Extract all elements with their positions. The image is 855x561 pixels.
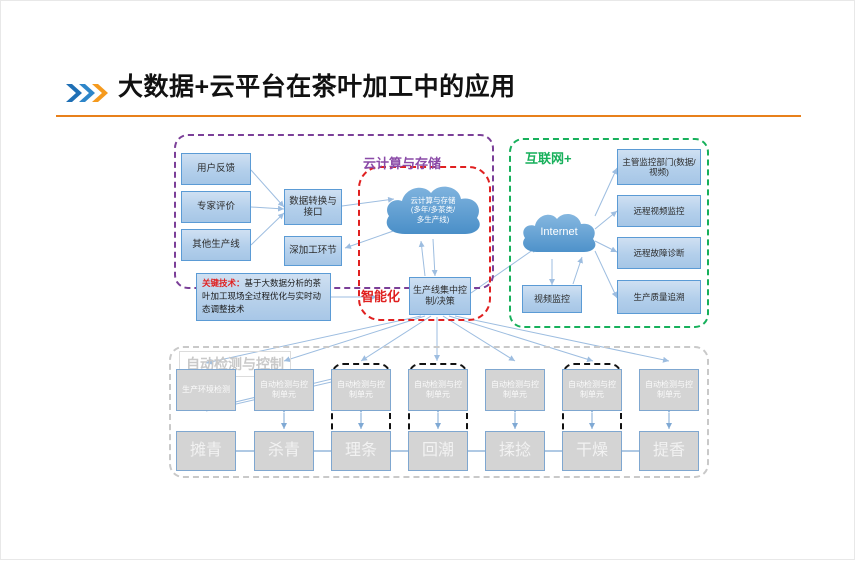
node-auto-unit-3[interactable]: 自动检测与控制单元 — [408, 369, 468, 411]
page-title: 大数据+云平台在茶叶加工中的应用 — [118, 67, 516, 107]
step-huichao[interactable]: 回潮 — [408, 431, 468, 471]
cloud-internet[interactable]: Internet — [517, 207, 601, 259]
node-environment-detection[interactable]: 生产环境检测 — [176, 369, 236, 411]
cloud-computing-storage[interactable]: 云计算与存储 (多年/多茶类/ 多生产线) — [379, 177, 487, 243]
node-remote-fault-diagnosis[interactable]: 远程故障诊断 — [617, 237, 701, 269]
node-data-conversion-interface[interactable]: 数据转换与接口 — [284, 189, 342, 225]
region-label-cloud-computing: 云计算与存储 — [363, 153, 441, 172]
node-deep-processing[interactable]: 深加工环节 — [284, 236, 342, 266]
node-auto-unit-4[interactable]: 自动检测与控制单元 — [485, 369, 545, 411]
slide-canvas: 大数据+云平台在茶叶加工中的应用 — [0, 0, 855, 560]
region-label-internet-plus: 互联网+ — [525, 148, 572, 167]
node-auto-unit-2[interactable]: 自动检测与控制单元 — [331, 369, 391, 411]
chevron-triple-icon — [64, 81, 116, 105]
step-tixiang[interactable]: 提香 — [639, 431, 699, 471]
node-supervision-department[interactable]: 主管监控部门(数据/视频) — [617, 149, 701, 185]
node-auto-unit-6[interactable]: 自动检测与控制单元 — [639, 369, 699, 411]
cloud-shape-icon — [517, 207, 601, 259]
node-user-feedback[interactable]: 用户反馈 — [181, 153, 251, 185]
step-litiao[interactable]: 理条 — [331, 431, 391, 471]
node-auto-unit-1[interactable]: 自动检测与控制单元 — [254, 369, 314, 411]
region-label-intelligent: 智能化 — [361, 286, 400, 305]
node-video-monitoring[interactable]: 视频监控 — [522, 285, 582, 313]
key-technology-callout: 关键技术：基于大数据分析的茶叶加工现场全过程优化与实时动态调整技术 — [196, 273, 331, 321]
node-expert-review[interactable]: 专家评价 — [181, 191, 251, 223]
slide-title-bar: 大数据+云平台在茶叶加工中的应用 — [56, 69, 801, 117]
step-tanqing[interactable]: 摊青 — [176, 431, 236, 471]
step-rounian[interactable]: 揉捻 — [485, 431, 545, 471]
step-ganzao[interactable]: 干燥 — [562, 431, 622, 471]
node-remote-video-monitoring[interactable]: 远程视频监控 — [617, 195, 701, 227]
step-shaqing[interactable]: 杀青 — [254, 431, 314, 471]
cloud-shape-icon — [379, 177, 487, 243]
title-underline — [56, 115, 801, 117]
node-production-line-control[interactable]: 生产线集中控制/决策 — [409, 277, 471, 315]
node-auto-unit-5[interactable]: 自动检测与控制单元 — [562, 369, 622, 411]
node-other-lines[interactable]: 其他生产线 — [181, 229, 251, 261]
node-quality-traceability[interactable]: 生产质量追溯 — [617, 280, 701, 314]
key-tech-prefix: 关键技术： — [202, 278, 245, 288]
